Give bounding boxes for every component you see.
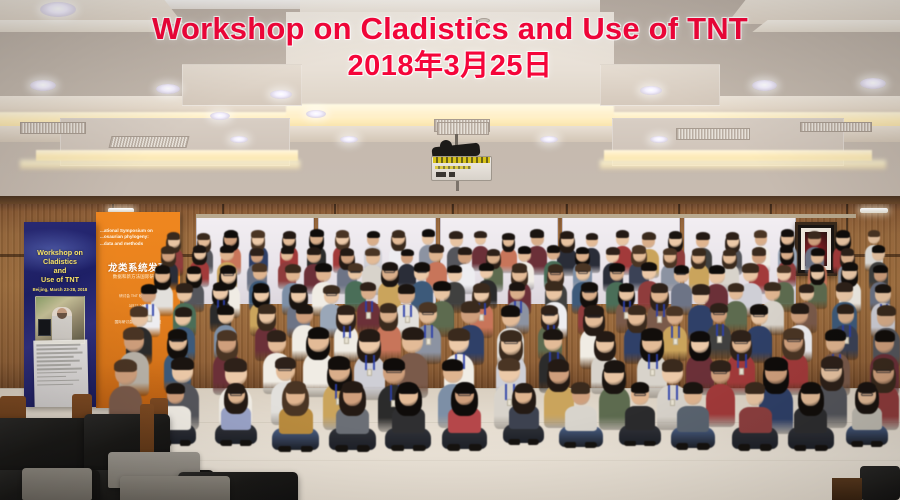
ceiling-vent-right (676, 128, 750, 140)
attendee-hair-cap (433, 281, 450, 291)
attendee-lanyard (365, 355, 367, 370)
attendee-hair-cap (422, 229, 435, 237)
attendee-hair-cap (392, 230, 406, 238)
attendee-glasses (587, 315, 600, 318)
attendee-hair-cap (367, 231, 380, 239)
attendee-hair-cap (114, 359, 137, 373)
attendee-hair-cap (632, 245, 646, 253)
attendee-shoe (413, 445, 426, 451)
attendee-badge (405, 316, 410, 323)
attendee-seated-glasses (861, 393, 874, 396)
attendee-hair-cap (509, 282, 525, 292)
attendee-lanyard (623, 301, 625, 312)
attendee-hair-cap (175, 307, 192, 317)
attendee-hair-cap (401, 249, 414, 257)
attendee-hair-cap (543, 329, 563, 341)
downlight (270, 90, 292, 99)
attendee-hair-cap (458, 247, 473, 256)
ceiling-center-recess (286, 12, 614, 108)
attendee-hair-cap (728, 283, 744, 292)
attendee-badge (670, 399, 675, 406)
attendee-shoe (794, 445, 807, 451)
attendee-seated-glasses (458, 393, 472, 396)
attendee-lanyard (390, 385, 392, 401)
attendee-hair-cap (642, 232, 656, 240)
attendee-hair-cap (692, 248, 706, 256)
attendee-badge (479, 314, 484, 321)
attendee-hair-cap (560, 231, 574, 239)
attendee-shoe (240, 440, 252, 446)
attendee-glasses (713, 371, 727, 374)
attendee-lanyard (152, 304, 154, 316)
attendee-shoe (851, 441, 863, 447)
attendee-hair-cap (308, 327, 330, 340)
projector-label-strip-2 (435, 166, 471, 169)
attendee-hair-cap (663, 248, 676, 256)
attendee-lanyard (520, 301, 522, 312)
attendee-hair-cap (616, 230, 630, 238)
attendee-shoe (180, 440, 192, 446)
attendee-hair-cap (836, 282, 853, 292)
attendee-hair-cap (429, 244, 444, 253)
attendee-seated-body (625, 406, 656, 430)
attendee-hair-cap (873, 265, 887, 274)
attendee-hair-cap (398, 284, 415, 294)
attendee-hair-cap (217, 330, 237, 342)
attendee-hair-cap (161, 246, 175, 254)
attendee-hair-cap (764, 357, 788, 371)
attendee-lanyard (676, 385, 678, 400)
attendee-hair-cap (123, 327, 144, 340)
attendee-glasses (223, 273, 234, 276)
attendee-hair-cap (217, 305, 234, 315)
cove-glow-left (20, 160, 300, 169)
attendee-hair-cap (641, 328, 663, 341)
attendee-shoe (871, 441, 883, 447)
attendee-hair-cap (473, 283, 490, 293)
attendee-badge (366, 312, 371, 319)
attendee-shoe (391, 445, 404, 451)
attendee-shoe (447, 444, 460, 450)
downlight (30, 80, 56, 91)
attendee-glasses (876, 370, 891, 374)
attendee-shoe (335, 445, 348, 451)
downlight (640, 86, 662, 95)
attendee-shoe (508, 439, 519, 445)
wall-top-shadow (0, 196, 900, 204)
attendee-hair-cap (545, 281, 563, 292)
attendee-glasses (350, 271, 360, 273)
attendee-hair-cap (726, 232, 739, 240)
attendee-hair-cap (868, 230, 881, 237)
attendee-seated-body (677, 406, 710, 432)
attendee-hair-cap (641, 262, 657, 271)
attendee-lanyard (668, 385, 670, 400)
attendee-seated-hair-cap (286, 381, 307, 393)
attendee-lanyard (431, 325, 433, 338)
attendee-hair-cap (502, 233, 514, 240)
attendee-seated-glasses (634, 393, 647, 396)
attendee-hair-cap (877, 305, 896, 316)
attendee-hair-cap (155, 265, 171, 274)
attendee-seated-hair-cap (166, 383, 184, 394)
attendee-hair-cap (285, 264, 301, 273)
attendee-hair-cap (791, 303, 809, 314)
attendee-badge (507, 399, 512, 406)
downlight (156, 84, 180, 94)
attendee-shoe (220, 440, 232, 446)
attendee-hair-cap (290, 284, 307, 294)
attendee-badge (739, 368, 744, 375)
attendee-shoe (301, 446, 314, 452)
attendee-hair-cap (576, 247, 589, 255)
attendee-shoe (278, 446, 291, 452)
smoke-detector (478, 18, 490, 23)
attendee-hair-cap (752, 247, 766, 255)
attendee-shoe (815, 445, 828, 451)
attendee-hair-cap (799, 284, 814, 293)
attendee-lanyard (463, 354, 465, 369)
attendee-seated-glasses (230, 393, 243, 396)
attendee-hair-cap (340, 248, 354, 256)
attendee-hair-cap (764, 282, 780, 292)
attendee-hair-cap (315, 263, 332, 273)
attendee-hair-cap (337, 305, 355, 315)
attendee-hair-cap (666, 306, 683, 316)
ceiling-soffit-left-angled-2 (0, 20, 168, 32)
attendee-shoe (644, 441, 656, 447)
attendee-shoe (676, 443, 688, 449)
attendee-hair-cap (690, 331, 710, 343)
attendee-hair-cap (360, 282, 376, 291)
attendee-hair-cap (193, 245, 206, 253)
attendee-glasses (384, 270, 395, 273)
attendee-shoe (528, 439, 539, 445)
attendee-hair-cap (130, 306, 148, 317)
attendee-seated-hair-cap (571, 382, 590, 394)
attendee-lanyard (373, 355, 375, 370)
attendee-hair-cap (692, 284, 710, 294)
ceiling (0, 0, 900, 218)
attendee-glasses (386, 370, 402, 374)
attendee-seated-hair-cap (398, 382, 418, 394)
attendee-hair-cap (328, 356, 351, 369)
attendee-hair-cap (709, 265, 725, 275)
attendee-glasses (676, 273, 686, 276)
chair-back-gray (22, 468, 92, 500)
attendee-seated-hair-cap (683, 382, 703, 394)
projector-ceiling-vent (437, 122, 489, 135)
cove-glow-right (600, 160, 886, 169)
attendee-glasses (504, 341, 519, 345)
attendee-glasses (278, 368, 292, 371)
downlight (306, 110, 326, 118)
attendee-badge (344, 337, 349, 344)
attendee-hair-cap (187, 266, 201, 274)
attendee-lanyard (849, 325, 851, 337)
attendee-shoe (564, 442, 576, 448)
projector-bracket (440, 140, 452, 152)
attendee-glasses (734, 341, 748, 344)
attendee-hair-cap (252, 263, 267, 272)
attendee-glasses (171, 339, 184, 342)
attendee-glasses (326, 293, 337, 296)
attendee-hair-cap (518, 246, 532, 254)
attendee-hair-cap (498, 358, 520, 371)
attendee-lanyard (663, 304, 665, 317)
attendee-seated-hair-cap (342, 381, 363, 393)
attendee-hair-cap (365, 248, 380, 257)
attendee-glasses (753, 314, 765, 317)
attendee-hair-cap (810, 264, 824, 272)
attendee-hair-cap (811, 248, 825, 256)
attendee-seated-hair-cap (745, 382, 765, 394)
attendee-hair-cap (447, 265, 462, 274)
attendee-hair-cap (604, 360, 626, 373)
attendee-shoe (738, 444, 751, 450)
attendee-lanyard (371, 301, 373, 312)
attendee-lanyard (424, 325, 426, 338)
attendee-hair-cap (742, 263, 758, 273)
attendee-hair-cap (836, 230, 850, 238)
attendee-hair-cap (781, 229, 794, 237)
downlight (210, 112, 230, 120)
downlight (650, 136, 668, 143)
projector-drop-pole (456, 181, 459, 191)
ceiling-panel-right-upper (600, 64, 720, 106)
chair-back-gray (120, 476, 230, 500)
attendee-shoe (585, 442, 597, 448)
attendee-hair-cap (530, 229, 544, 237)
attendee-glasses (578, 271, 589, 274)
attendee-hair-cap (487, 249, 500, 257)
attendee-hair-cap (359, 329, 381, 342)
attendee-hair-cap (197, 233, 210, 241)
attendee-hair-cap (220, 245, 235, 254)
attendee-seated-hair-cap (227, 383, 245, 394)
attendee-shoe (697, 443, 709, 449)
attendee-hair-cap (213, 282, 229, 291)
attendee-hair-cap (696, 232, 710, 240)
attendee-glasses (417, 271, 428, 274)
group-photo-image: ...ational Symposium on ...osaurian phyl… (0, 0, 900, 500)
attendee-seated-hair-cap (455, 382, 475, 394)
attendee-shoe (357, 445, 370, 451)
attendee-hair-cap (442, 359, 463, 372)
attendee-seated-hair-cap (858, 382, 877, 393)
attendee-glasses (824, 368, 839, 372)
projector-port (449, 172, 455, 177)
attendee-hair-cap (837, 304, 854, 314)
attendee-seated-hair-cap (801, 382, 821, 394)
attendee-hair-cap (780, 245, 793, 253)
attendee-hair-cap (224, 230, 238, 238)
attendee-seated-hair-cap (515, 383, 533, 394)
attendee-badge (717, 336, 722, 343)
downlight (340, 136, 358, 143)
attendee-hair-cap (474, 231, 486, 238)
attendee-hair-cap (281, 246, 294, 254)
attendee-glasses (550, 272, 561, 275)
attendee-body (706, 384, 735, 427)
attendee-hair-cap (825, 329, 846, 341)
attendee-shoe (624, 441, 636, 447)
attendee-hair-cap (250, 248, 264, 256)
attendee-hair-cap (754, 230, 767, 238)
attendee-badge (367, 369, 372, 376)
attendee-lanyard (410, 305, 412, 317)
attendee-hair-cap (586, 233, 598, 240)
attendee-hair-cap (842, 262, 858, 271)
projector-label-strip (433, 157, 490, 163)
attendee-hair-cap (167, 232, 180, 240)
attendee-lanyard (505, 384, 507, 400)
attendee-hair-cap (141, 284, 157, 294)
attendee-hair-cap (224, 358, 248, 372)
attendee-hair-cap (267, 330, 287, 342)
attendee-hair-cap (669, 231, 683, 239)
attendee-hair-cap (310, 229, 324, 237)
attendee-hair-cap (251, 230, 264, 238)
attendee-hair-cap (501, 305, 520, 316)
attendee-lanyard (722, 324, 724, 336)
attendee-hair-cap (253, 283, 269, 293)
attendee-lanyard (343, 326, 345, 338)
attendee-seated-hair-cap (631, 382, 650, 393)
attendee-hair-cap (171, 357, 194, 370)
attendee-lanyard (656, 354, 658, 369)
attendee-lanyard (349, 326, 351, 338)
attendee-lanyard (648, 354, 650, 369)
attendee-hair-cap (548, 359, 569, 372)
attendee-lanyard (335, 384, 337, 400)
attendee-hair-cap (777, 265, 792, 274)
attendee-shoe (760, 444, 773, 450)
attendee-hair-cap (512, 263, 528, 272)
attendee-hair-cap (448, 328, 470, 341)
attendee-hair-cap (307, 247, 321, 256)
attendee-hair-cap (283, 231, 296, 239)
attendee-hair-cap (872, 245, 886, 253)
attendee-lanyard (671, 326, 673, 338)
attendee-hair-cap (596, 331, 616, 343)
attendee-lanyard (716, 324, 718, 336)
attendee-hair-cap (841, 248, 855, 256)
attendee-badge (657, 316, 662, 323)
attendee-glasses (713, 312, 725, 315)
attendee-lanyard (484, 303, 486, 315)
attendee-hair-cap (547, 245, 560, 253)
ceiling-vent-left (20, 122, 86, 134)
attendee-hair-cap (402, 327, 424, 340)
attendee-hair-cap (606, 247, 620, 255)
downlight (540, 136, 558, 143)
attendee-hair-cap (628, 305, 646, 316)
downlight (860, 78, 886, 89)
attendee-badge (426, 338, 431, 345)
attendee-glasses (612, 271, 623, 274)
downlight (40, 2, 76, 17)
attendee-hair-cap (808, 231, 822, 239)
attendee-lanyard (678, 326, 680, 338)
attendee-hair-cap (479, 263, 493, 271)
attendee-hair-cap (336, 230, 349, 238)
attendee-hair-cap (662, 359, 684, 372)
downlight (752, 80, 777, 91)
ceiling-vent-left-2 (109, 136, 190, 148)
attendee-seated-body (739, 407, 772, 433)
attendee-badge (650, 369, 655, 376)
wall-strip-light (860, 208, 888, 213)
attendee-seated-body (565, 406, 597, 431)
attendee-hair-cap (875, 284, 892, 294)
conference-chair-right (860, 466, 900, 500)
attendee-lanyard (737, 354, 739, 368)
attendee-glasses (787, 339, 801, 342)
attendee-hair-cap (651, 283, 669, 294)
cove-light-center (286, 104, 614, 117)
attendee-lanyard (745, 354, 747, 368)
ceiling-panel-left-upper (182, 64, 302, 106)
ceiling-soffit-right-angled-2 (752, 20, 900, 32)
attendee-hair-cap (258, 304, 275, 314)
attendee-hair-cap (875, 330, 896, 342)
attendee-hair-cap (449, 231, 463, 239)
attendee-hair-cap (619, 283, 634, 292)
attendee-shoe (469, 444, 482, 450)
attendee-glasses (422, 312, 435, 315)
attendee-hair-cap (176, 283, 192, 293)
ceiling-vent-right-2 (800, 122, 872, 132)
attendee-hair-cap (296, 304, 313, 314)
projector-pole (476, 20, 478, 36)
attendee-hair-cap (380, 303, 398, 314)
attendee-lanyard (656, 304, 658, 317)
projector-port (436, 172, 446, 177)
attendee-hair-cap (723, 249, 736, 257)
attendee-badge (673, 338, 678, 345)
attendee-hair-cap (461, 301, 481, 313)
downlight (230, 136, 248, 143)
chair-armrest-right (832, 478, 862, 500)
